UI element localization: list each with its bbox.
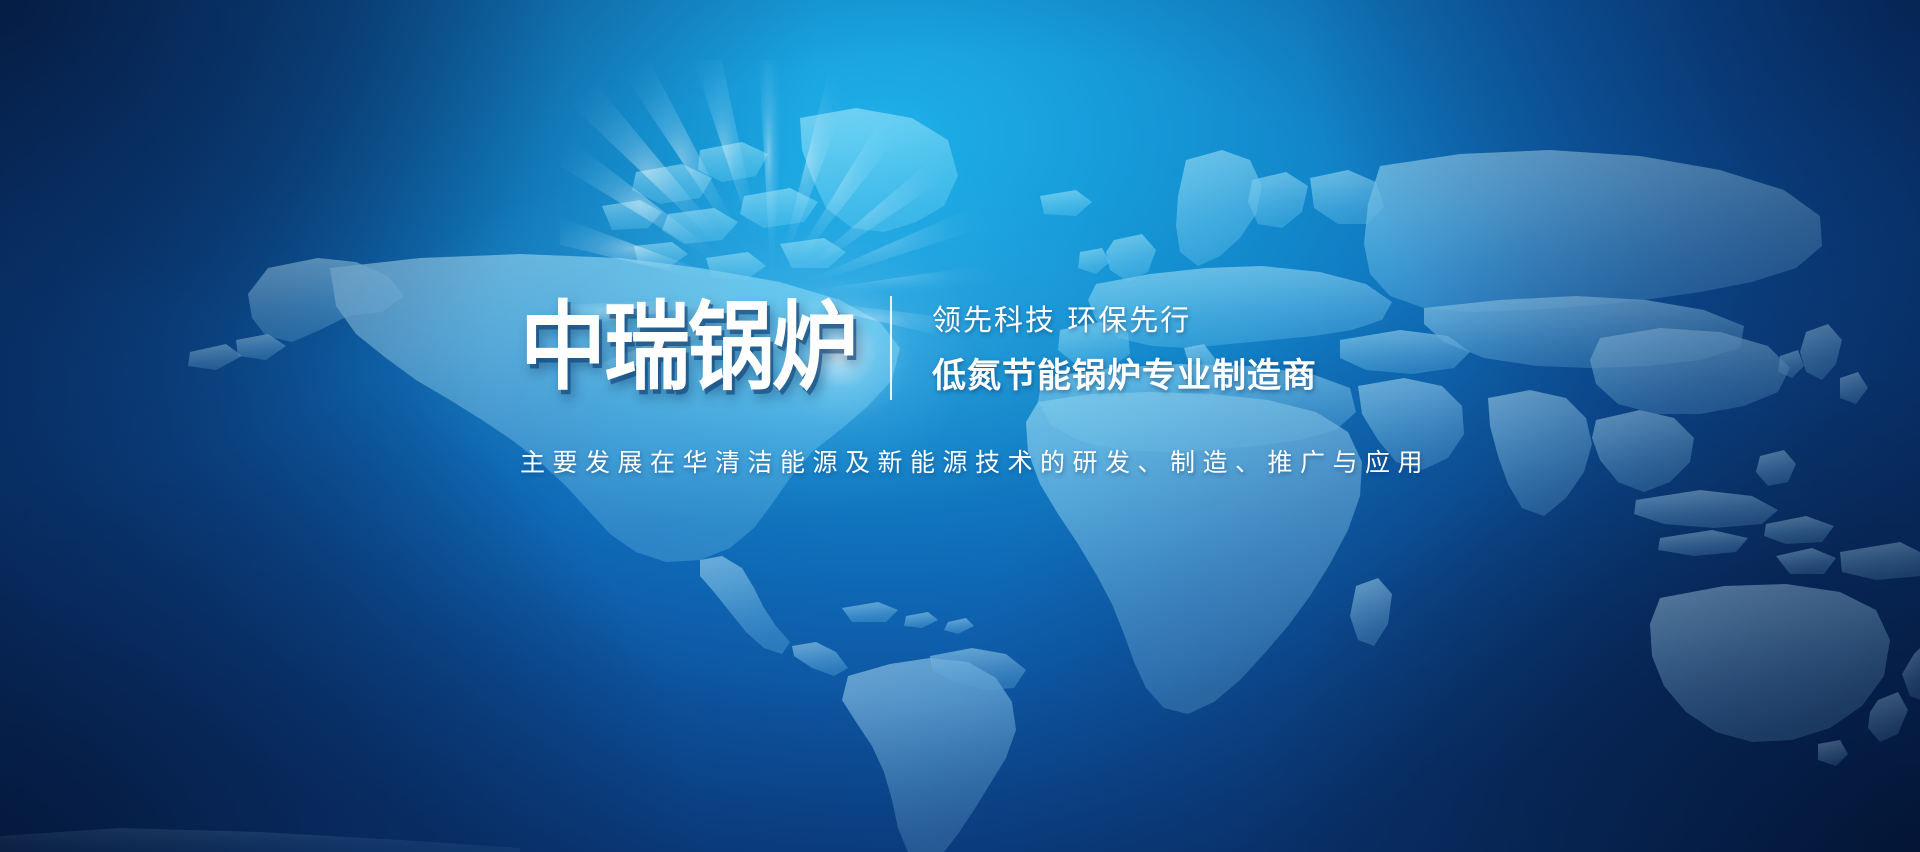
brand-logo-text: 中瑞锅炉 <box>520 300 856 396</box>
banner-content: 中瑞锅炉 领先科技 环保先行 低氮节能锅炉专业制造商 主要发展在华清洁能源及新能… <box>0 0 1920 852</box>
slogan-block: 领先科技 环保先行 低氮节能锅炉专业制造商 <box>932 297 1317 399</box>
vertical-divider <box>890 296 892 400</box>
headline-row: 中瑞锅炉 领先科技 环保先行 低氮节能锅炉专业制造商 <box>520 296 1317 400</box>
slogan-line-1: 领先科技 环保先行 <box>932 297 1317 339</box>
hero-banner: 中瑞锅炉 领先科技 环保先行 低氮节能锅炉专业制造商 主要发展在华清洁能源及新能… <box>0 0 1920 852</box>
banner-subline: 主要发展在华清洁能源及新能源技术的研发、制造、推广与应用 <box>520 443 1430 479</box>
slogan-line-2: 低氮节能锅炉专业制造商 <box>932 348 1317 397</box>
